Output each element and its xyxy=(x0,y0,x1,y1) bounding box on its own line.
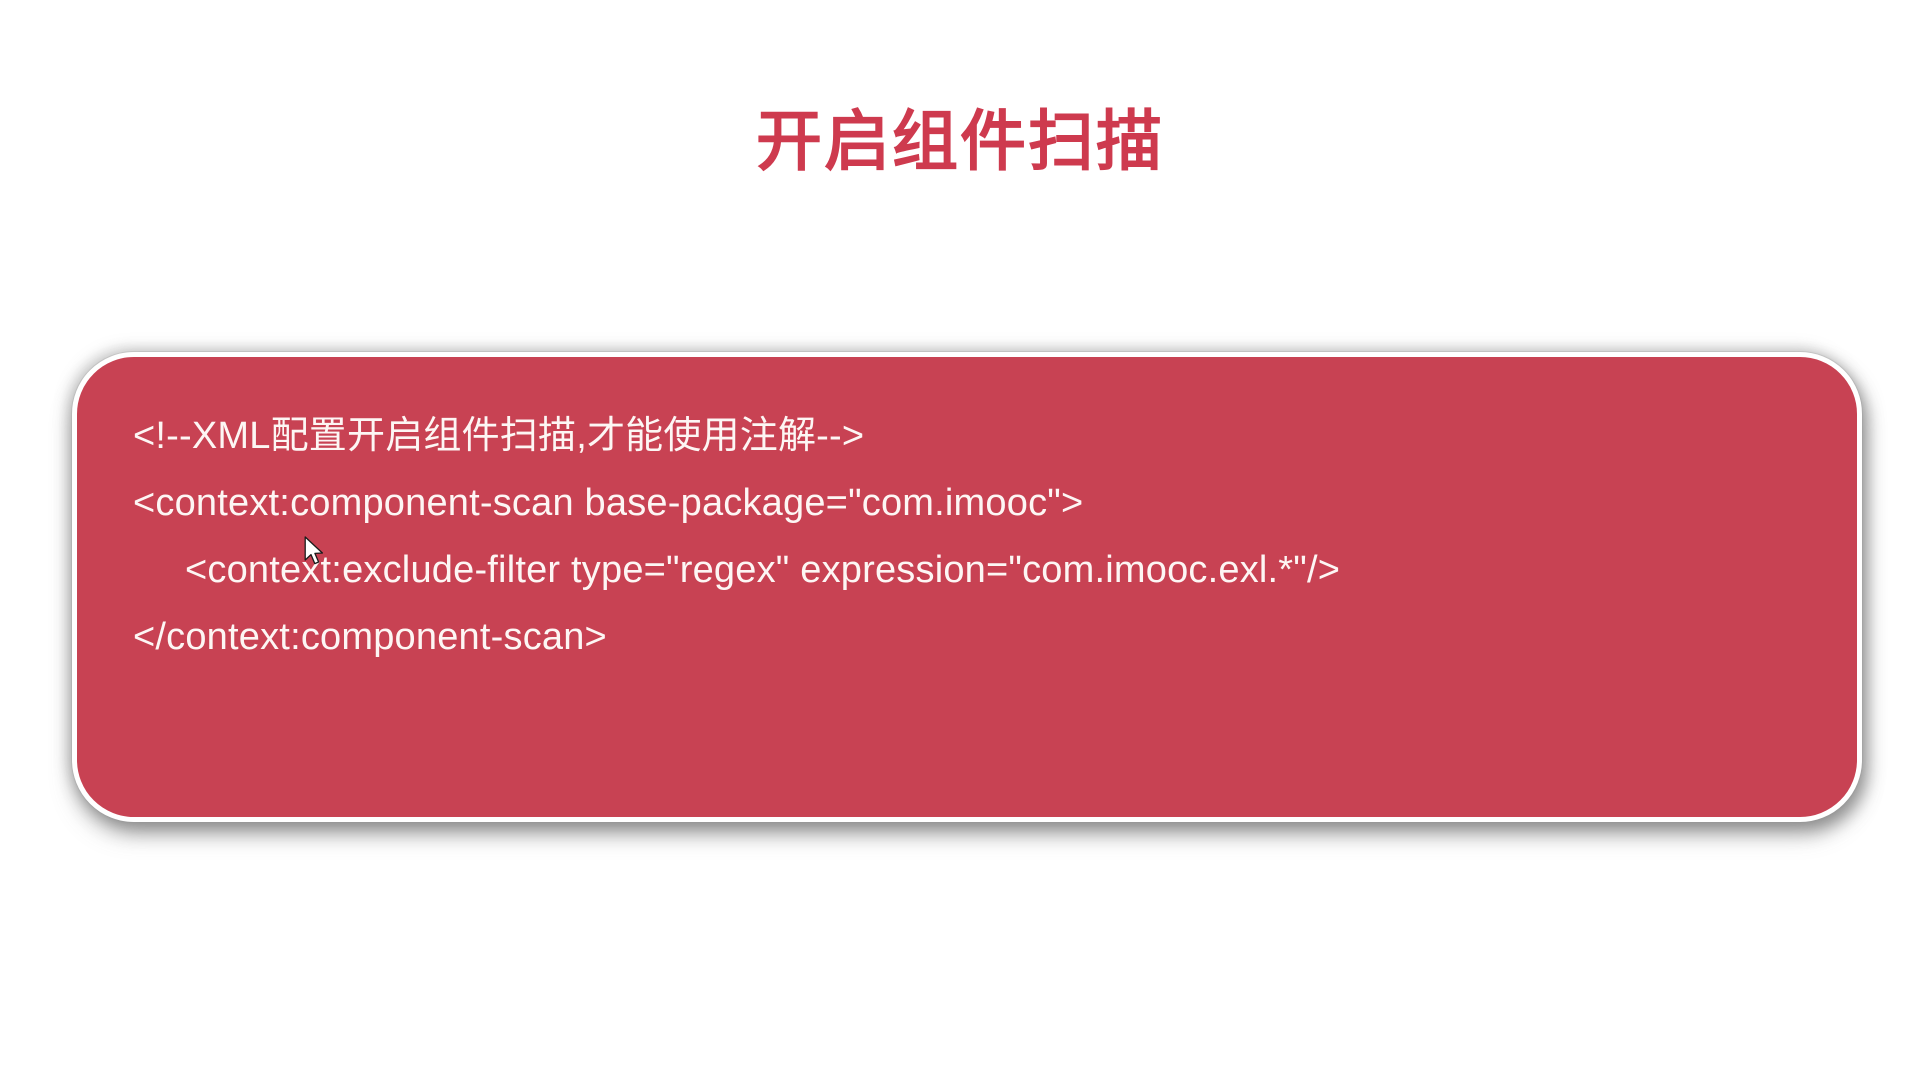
code-line: <context:exclude-filter type="regex" exp… xyxy=(133,537,1837,604)
code-line: <!--XML配置开启组件扫描,才能使用注解--> xyxy=(133,403,1837,470)
code-line: </context:component-scan> xyxy=(133,604,1837,671)
code-block-body: <!--XML配置开启组件扫描,才能使用注解--> <context:compo… xyxy=(133,403,1837,671)
code-line: <context:component-scan base-package="co… xyxy=(133,470,1837,537)
page-title: 开启组件扫描 xyxy=(0,98,1920,184)
code-block-card: <!--XML配置开启组件扫描,才能使用注解--> <context:compo… xyxy=(72,352,1862,822)
slide-root: 开启组件扫描 <!--XML配置开启组件扫描,才能使用注解--> <contex… xyxy=(0,0,1920,1080)
